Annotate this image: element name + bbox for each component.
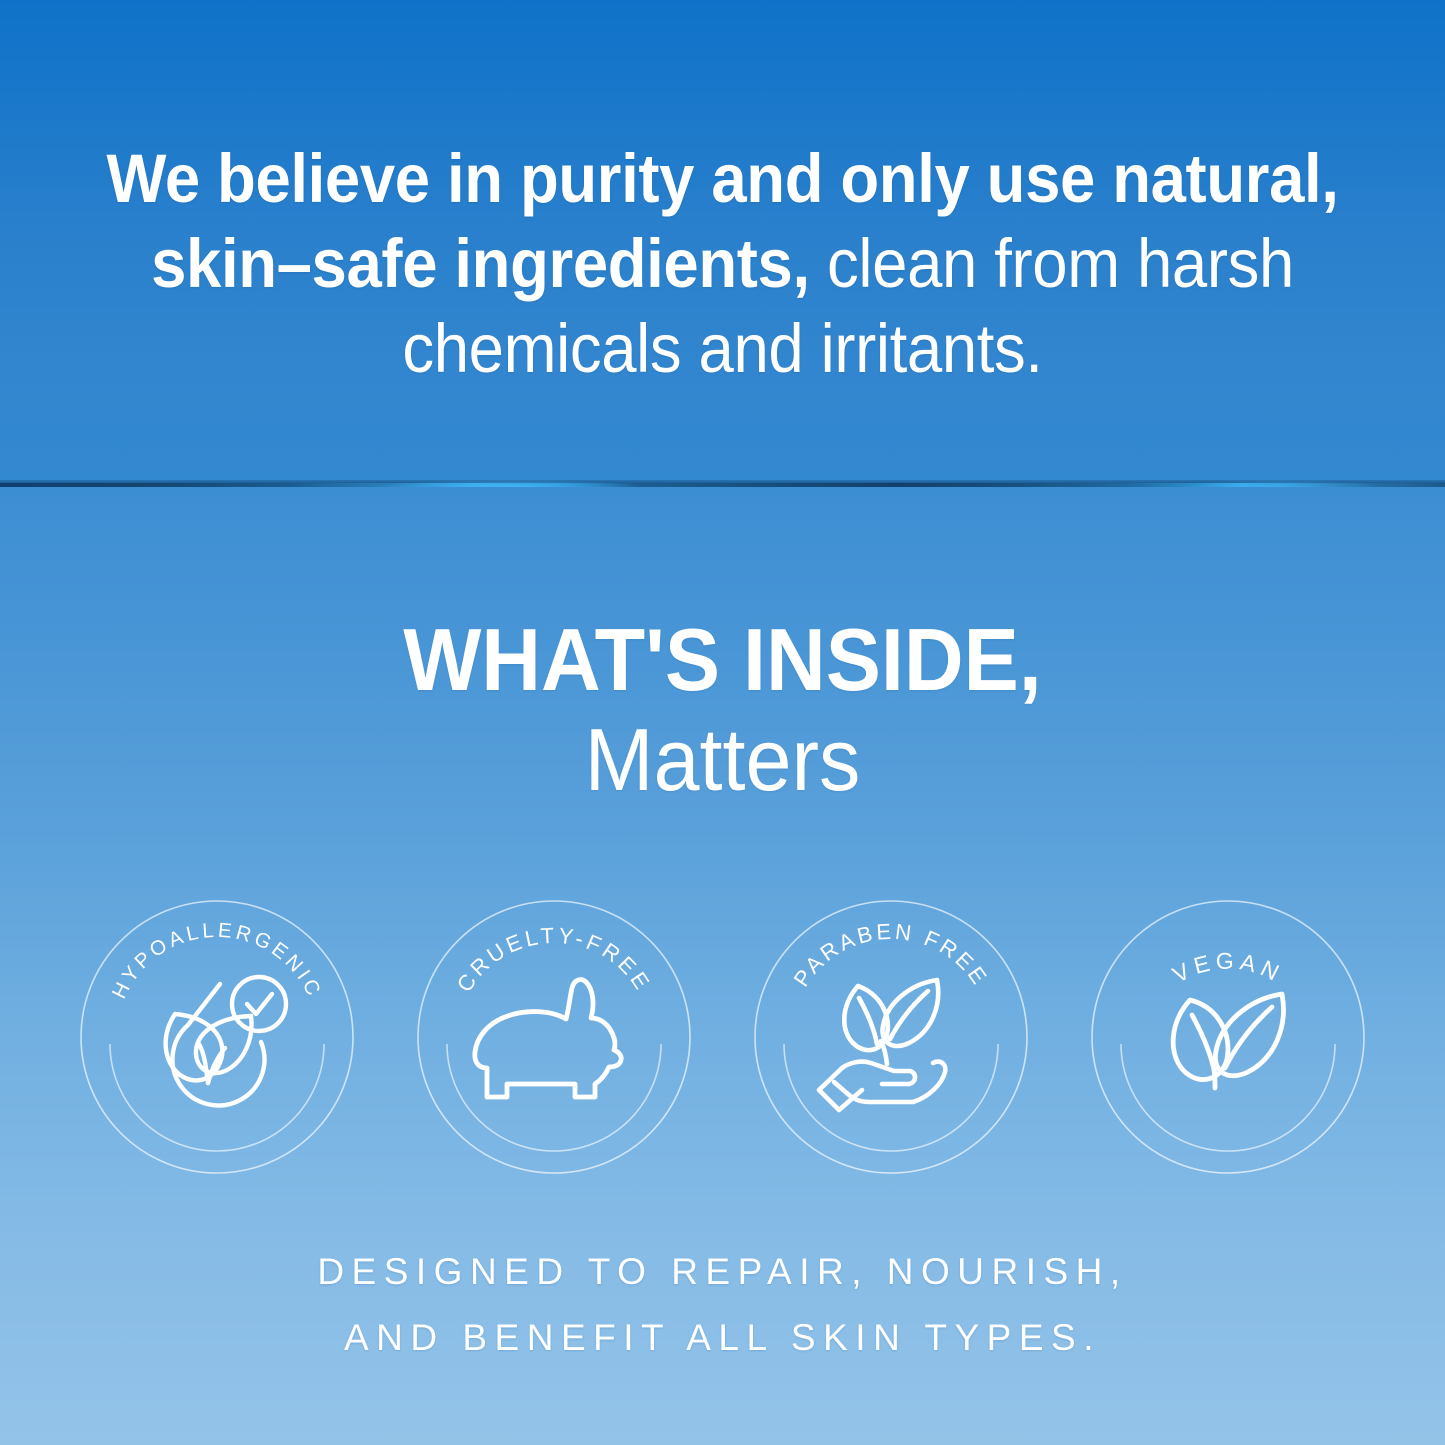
intro-headline: We believe in purity and only use natura… — [58, 136, 1387, 391]
badge-label-cruelty-free: CRUELTY-FREE — [452, 923, 657, 997]
badge-vegan[interactable]: VEGAN — [1083, 892, 1373, 1182]
footer-tagline-line2: AND BENEFIT ALL SKIN TYPES. — [0, 1305, 1445, 1371]
badge-paraben-free[interactable]: PARABEN FREE — [746, 892, 1036, 1182]
promo-banner: We believe in purity and only use natura… — [0, 0, 1445, 1445]
badge-inner-arc — [447, 1044, 661, 1151]
intro-section: We believe in purity and only use natura… — [0, 0, 1445, 487]
section-heading-line2: Matters — [43, 708, 1401, 812]
badge-label-paraben-free: PARABEN FREE — [789, 919, 994, 991]
footer-tagline-line1: DESIGNED TO REPAIR, NOURISH, — [0, 1239, 1445, 1305]
certification-badge-row: HYPOALLERGENIC — [0, 887, 1445, 1187]
whats-inside-section: WHAT'S INSIDE, Matters HYPOALLERGENIC — [0, 487, 1445, 1445]
badge-inner-arc — [784, 1044, 998, 1151]
section-heading: WHAT'S INSIDE, Matters — [0, 612, 1445, 812]
hand-holding-leaves-icon — [819, 980, 945, 1110]
badge-label-vegan: VEGAN — [1168, 948, 1287, 988]
two-leaves-icon — [1173, 994, 1283, 1088]
section-heading-line1: WHAT'S INSIDE, — [43, 612, 1401, 708]
droplet-leaves-check-icon — [166, 977, 286, 1105]
rabbit-icon — [475, 980, 621, 1097]
footer-tagline: DESIGNED TO REPAIR, NOURISH, AND BENEFIT… — [0, 1239, 1445, 1371]
badge-hypoallergenic[interactable]: HYPOALLERGENIC — [72, 892, 362, 1182]
badge-cruelty-free[interactable]: CRUELTY-FREE — [409, 892, 699, 1182]
